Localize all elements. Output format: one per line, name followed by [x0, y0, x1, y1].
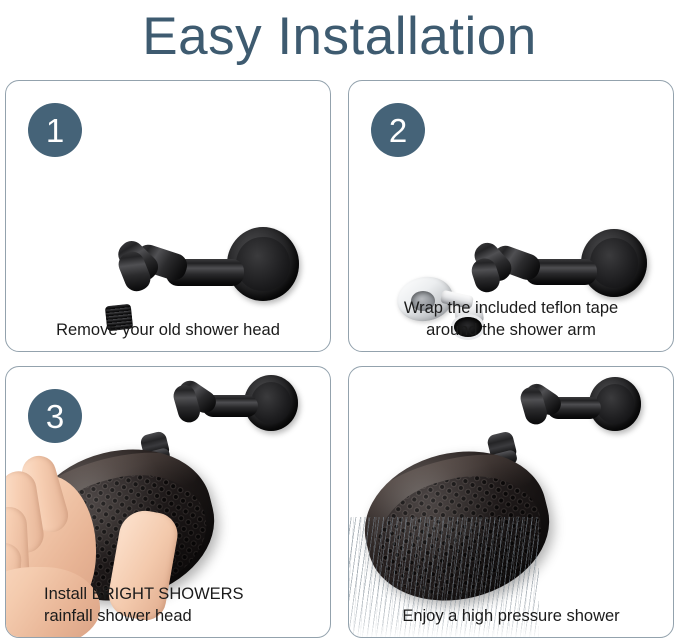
running-shower-illustration	[349, 367, 673, 637]
step-caption-2: Wrap the included teflon tape around the…	[349, 298, 673, 341]
page-title: Easy Installation	[0, 0, 679, 72]
step-panel-2: 2 Wrap the included teflo	[348, 80, 674, 352]
step-number-badge-1: 1	[28, 103, 82, 157]
installation-infographic: Easy Installation 1 Remove your old show…	[0, 0, 679, 644]
step-caption-1: Remove your old shower head	[6, 320, 330, 341]
steps-grid: 1 Remove your old shower head 2	[5, 80, 674, 638]
step-panel-4: Enjoy a high pressure shower	[348, 366, 674, 638]
step-number-badge-3: 3	[28, 389, 82, 443]
step-panel-3: 3	[5, 366, 331, 638]
step-panel-1: 1 Remove your old shower head	[5, 80, 331, 352]
shower-head-shading	[350, 433, 564, 619]
step-caption-3: Install BRIGHT SHOWERS rainfall shower h…	[6, 584, 330, 627]
step-caption-4: Enjoy a high pressure shower	[349, 606, 673, 627]
step-number-badge-2: 2	[371, 103, 425, 157]
shower-head	[350, 433, 564, 619]
